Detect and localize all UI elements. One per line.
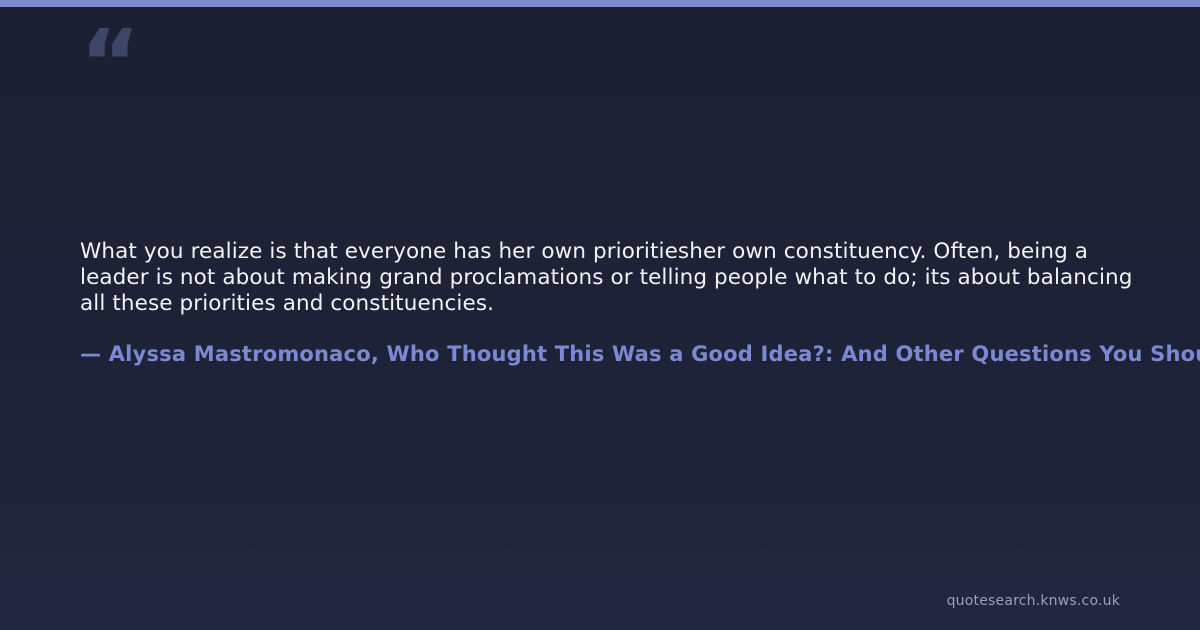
- quote-attribution: — Alyssa Mastromonaco, Who Thought This …: [80, 340, 1200, 368]
- footer-site-url: quotesearch.knws.co.uk: [947, 592, 1120, 610]
- background-band: [0, 470, 1200, 471]
- background-band: [0, 318, 1200, 319]
- quote-text: What you realize is that everyone has he…: [80, 239, 1140, 317]
- top-accent-bar: [0, 0, 1200, 7]
- background-band: [0, 188, 1200, 189]
- background-band: [0, 574, 1200, 575]
- quotation-mark-icon: “: [80, 18, 138, 110]
- quote-card: “ What you realize is that everyone has …: [0, 0, 1200, 630]
